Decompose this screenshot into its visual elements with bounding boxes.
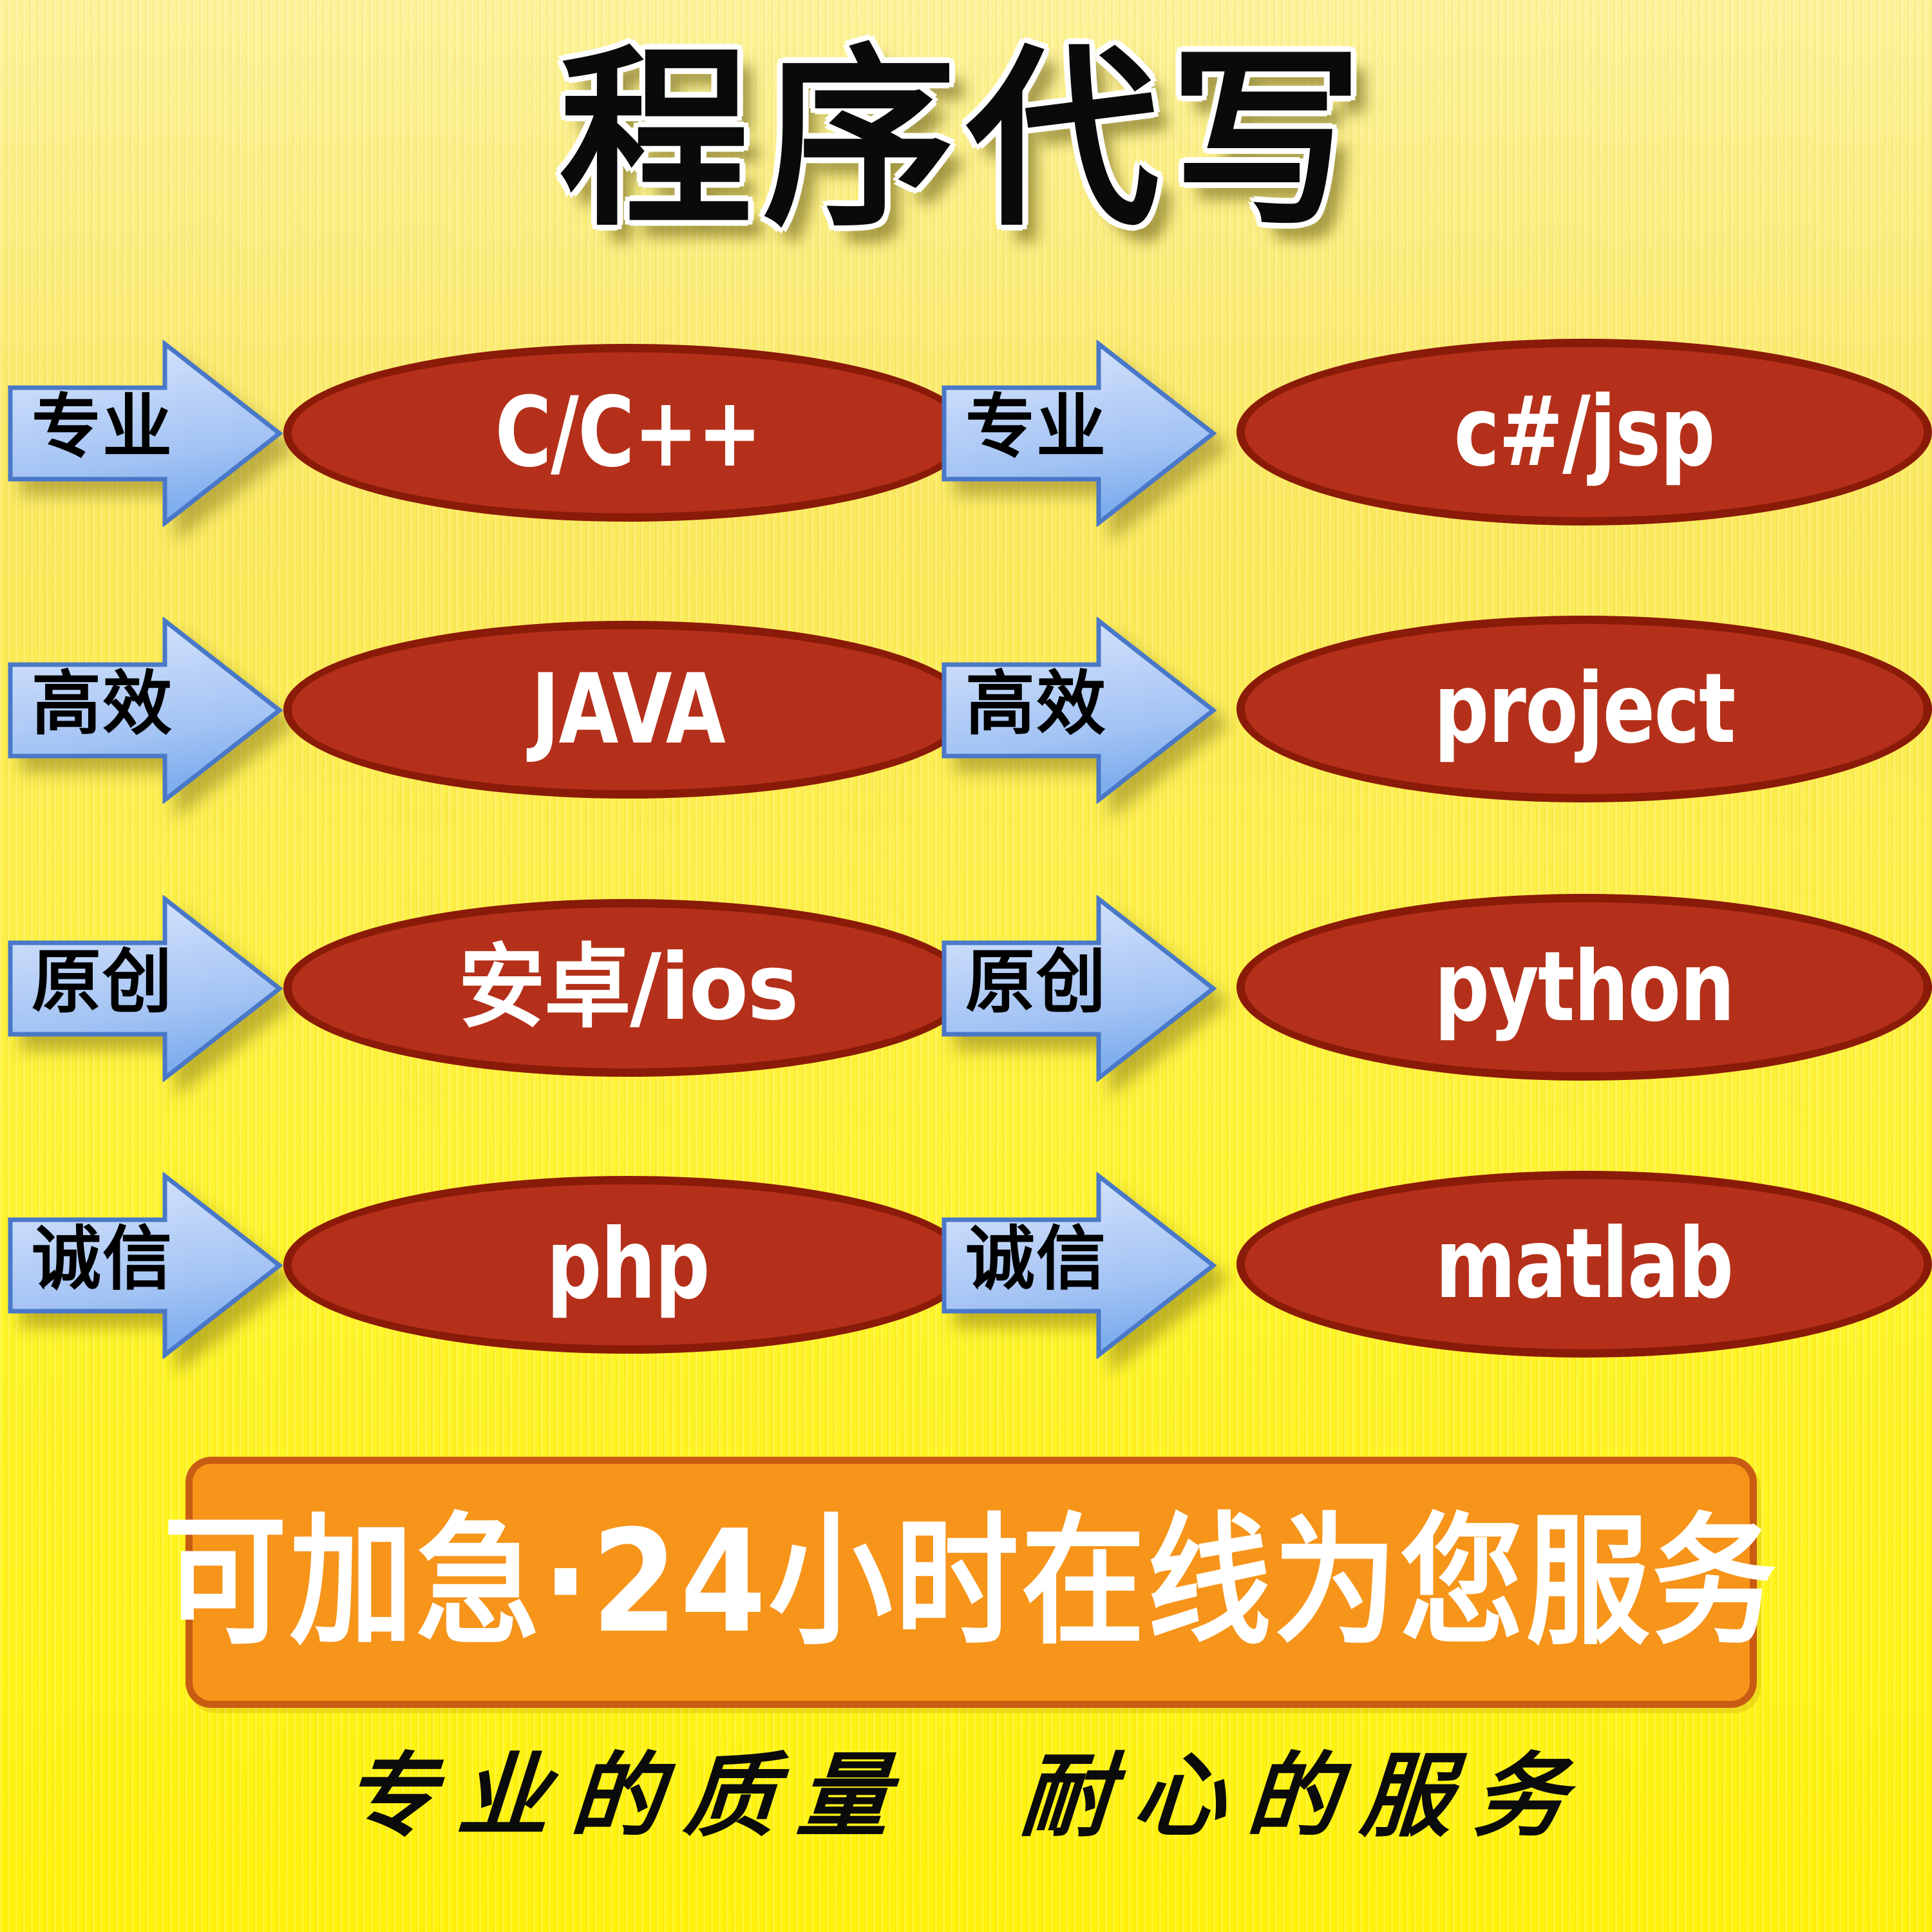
service-name: c#/jsp bbox=[1454, 384, 1714, 480]
arrow-badge-label: 原创 bbox=[18, 947, 187, 1019]
arrow-badge-label: 原创 bbox=[952, 947, 1121, 1019]
service-ellipse[interactable]: C/C++ bbox=[283, 344, 972, 522]
arrow-badge-label: 诚信 bbox=[952, 1224, 1121, 1296]
arrow-badge-label: 高效 bbox=[18, 668, 187, 741]
service-name: project bbox=[1434, 661, 1734, 757]
service-cell-right[interactable]: 诚信matlab bbox=[979, 1167, 1932, 1360]
urgent-service-banner-text: 可加急·24小时在线为您服务 bbox=[164, 1510, 1779, 1654]
service-row: 高效JAVA 高效project bbox=[0, 612, 1932, 805]
service-cell-right[interactable]: 专业c#/jsp bbox=[979, 335, 1932, 528]
service-ellipse[interactable]: php bbox=[283, 1176, 972, 1354]
service-ellipse[interactable]: JAVA bbox=[283, 621, 972, 799]
service-name: matlab bbox=[1435, 1216, 1733, 1312]
service-row: 诚信php 诚信matlab bbox=[0, 1167, 1932, 1360]
service-name: JAVA bbox=[531, 661, 725, 758]
footer-slogan: 专业的质量 bbox=[341, 1748, 914, 1844]
service-ellipse[interactable]: 安卓/ios bbox=[283, 899, 972, 1077]
service-name: C/C++ bbox=[495, 384, 761, 481]
page-title: 程序代写 bbox=[0, 36, 1932, 245]
footer-slogan: 耐心的服务 bbox=[1018, 1748, 1591, 1844]
service-name: php bbox=[547, 1217, 709, 1313]
poster-canvas: 程序代写 专业C/C++ 专业c#/jsp bbox=[0, 0, 1932, 1932]
service-row: 原创安卓/ios 原创python bbox=[0, 890, 1932, 1083]
service-cell-left[interactable]: 诚信php bbox=[6, 1167, 972, 1360]
service-name: 安卓/ios bbox=[459, 940, 798, 1036]
service-cell-right[interactable]: 原创python bbox=[979, 890, 1932, 1083]
arrow-badge-label: 高效 bbox=[952, 668, 1121, 741]
footer-slogans: 专业的质量耐心的服务 bbox=[0, 1748, 1932, 1844]
service-ellipse[interactable]: project bbox=[1236, 616, 1932, 802]
service-cell-right[interactable]: 高效project bbox=[979, 612, 1932, 805]
arrow-badge-label: 专业 bbox=[18, 392, 187, 464]
service-cell-left[interactable]: 原创安卓/ios bbox=[6, 890, 972, 1083]
service-ellipse[interactable]: c#/jsp bbox=[1236, 339, 1932, 526]
service-name: python bbox=[1434, 939, 1734, 1036]
service-ellipse[interactable]: matlab bbox=[1236, 1171, 1932, 1358]
arrow-badge-label: 专业 bbox=[952, 392, 1121, 464]
service-cell-left[interactable]: 高效JAVA bbox=[6, 612, 972, 805]
service-row: 专业C/C++ 专业c#/jsp bbox=[0, 335, 1932, 528]
urgent-service-banner: 可加急·24小时在线为您服务 bbox=[185, 1457, 1757, 1708]
service-ellipse[interactable]: python bbox=[1236, 894, 1932, 1081]
service-cell-left[interactable]: 专业C/C++ bbox=[6, 335, 972, 528]
arrow-badge-label: 诚信 bbox=[18, 1224, 187, 1296]
